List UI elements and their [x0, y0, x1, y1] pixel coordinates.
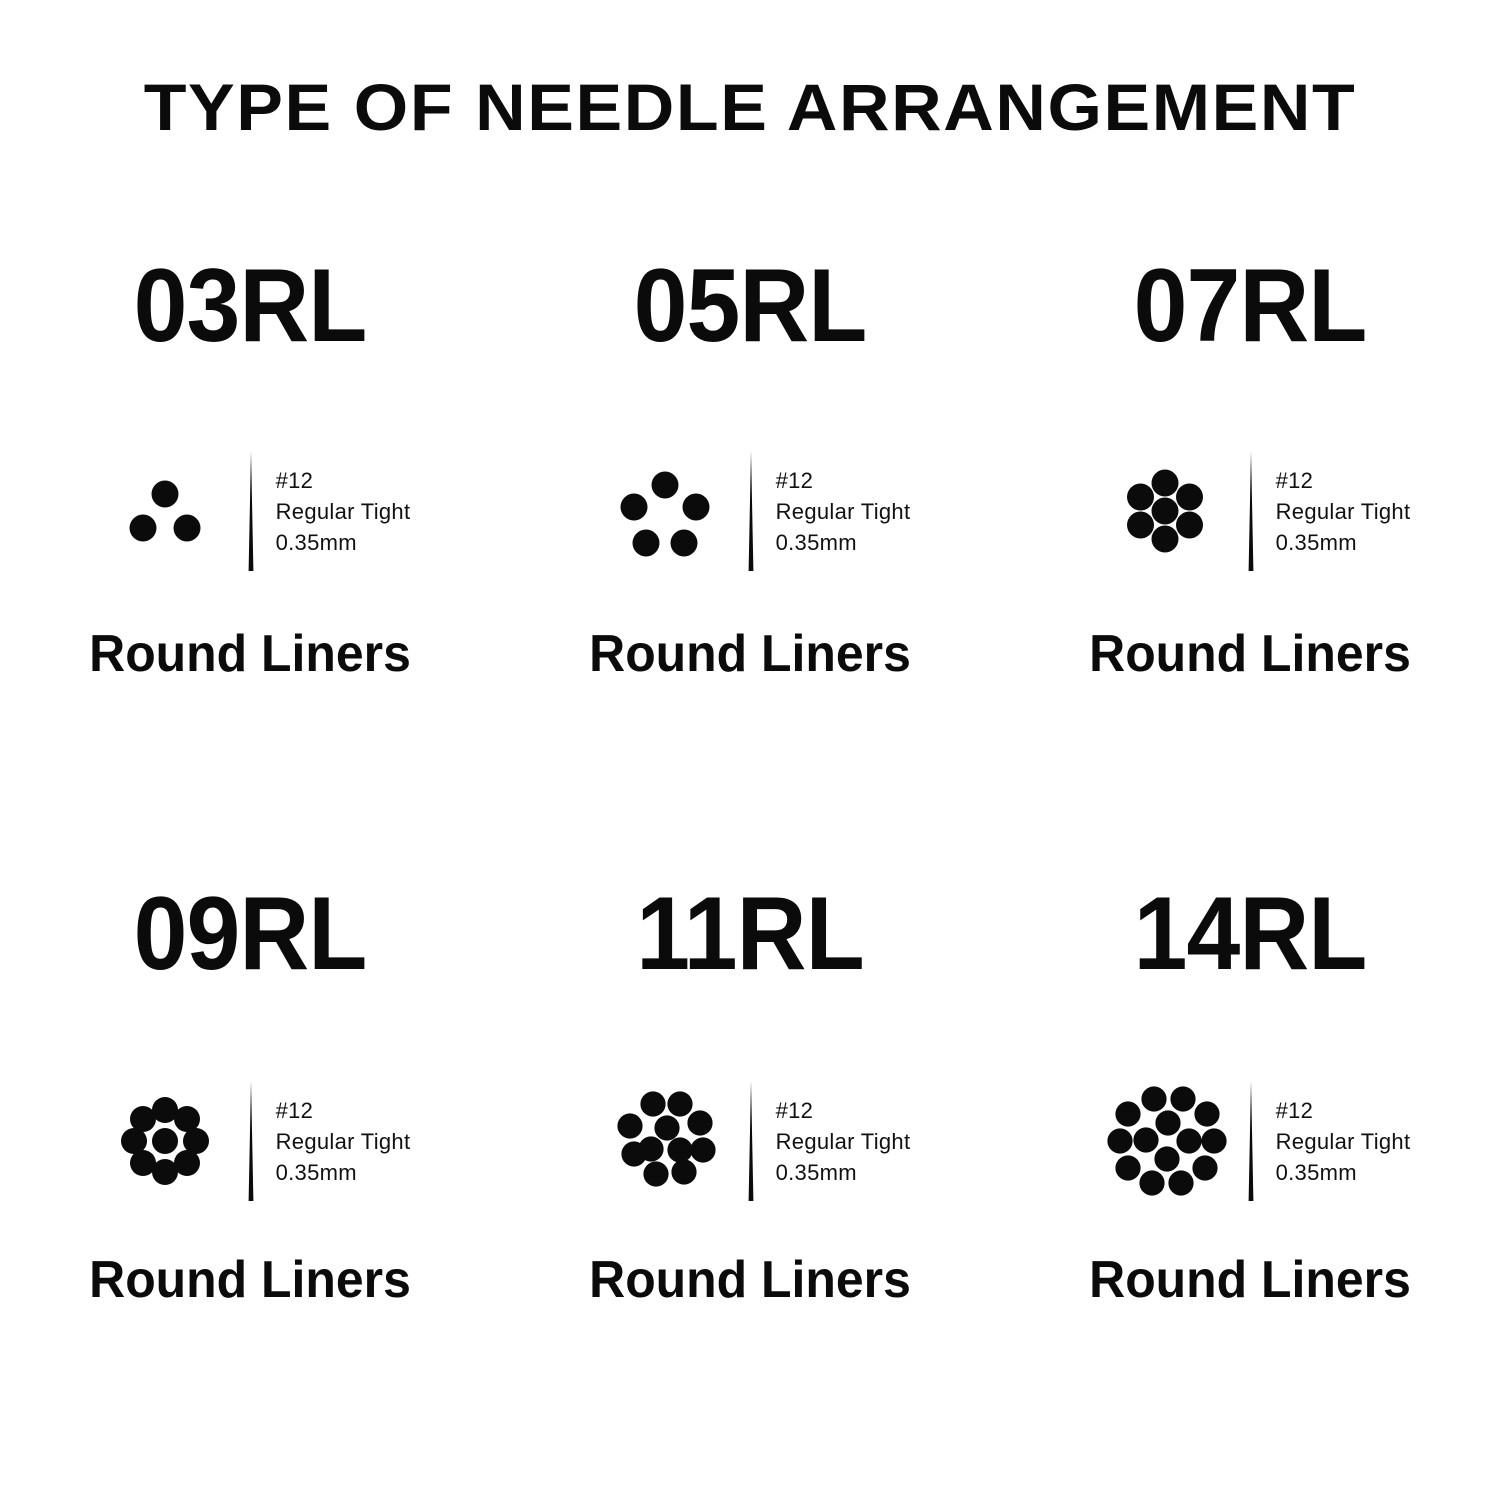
needle-specs: #12 Regular Tight 0.35mm: [262, 465, 411, 558]
needle-gauge: #12: [1276, 465, 1411, 496]
needle-detail-row: #12 Regular Tight 0.35mm: [1000, 1066, 1500, 1216]
dot-cluster-11-icon: [590, 1066, 740, 1216]
dot-cluster-7-icon: [1090, 436, 1240, 586]
needle-taper-icon: [740, 451, 762, 571]
needle-cell-03rl[interactable]: 03RL #12: [0, 240, 500, 870]
dot-cluster-14-icon: [1090, 1066, 1240, 1216]
needle-specs: #12 Regular Tight 0.35mm: [762, 465, 911, 558]
needle-detail-row: #12 Regular Tight 0.35mm: [1000, 436, 1500, 586]
needle-specs: #12 Regular Tight 0.35mm: [1262, 465, 1411, 558]
dot-cluster-9-icon: [90, 1066, 240, 1216]
needle-taper-icon: [1240, 1081, 1262, 1201]
needle-taper: Regular Tight: [1276, 1126, 1411, 1157]
needle-family-label: Round Liners: [510, 628, 990, 680]
needle-gauge: #12: [776, 1095, 911, 1126]
dot-cluster-3-icon: [90, 436, 240, 586]
needle-specs: #12 Regular Tight 0.35mm: [1262, 1095, 1411, 1188]
needle-gauge: #12: [776, 465, 911, 496]
needle-diameter: 0.35mm: [776, 1157, 911, 1188]
needle-diameter: 0.35mm: [276, 1157, 411, 1188]
needle-family-label: Round Liners: [1010, 628, 1490, 680]
needle-grid: 03RL #12: [0, 240, 1500, 1500]
needle-taper-icon: [240, 1081, 262, 1201]
needle-gauge: #12: [276, 1095, 411, 1126]
needle-taper: Regular Tight: [276, 1126, 411, 1157]
needle-diameter: 0.35mm: [1276, 527, 1411, 558]
needle-cell-11rl[interactable]: 11RL: [500, 870, 1000, 1500]
needle-code-label: 07RL: [1018, 254, 1483, 358]
needle-detail-row: #12 Regular Tight 0.35mm: [500, 1066, 1000, 1216]
needle-code-label: 11RL: [518, 882, 983, 986]
needle-cell-07rl[interactable]: 07RL: [1000, 240, 1500, 870]
needle-code-label: 14RL: [1018, 882, 1483, 986]
needle-diameter: 0.35mm: [1276, 1157, 1411, 1188]
needle-family-label: Round Liners: [10, 628, 490, 680]
needle-gauge: #12: [276, 465, 411, 496]
page-title: TYPE OF NEEDLE ARRANGEMENT: [0, 74, 1500, 140]
needle-family-label: Round Liners: [10, 1254, 490, 1306]
needle-cell-14rl[interactable]: 14RL: [1000, 870, 1500, 1500]
needle-taper-icon: [740, 1081, 762, 1201]
needle-code-label: 09RL: [18, 882, 483, 986]
needle-arrangement-chart: TYPE OF NEEDLE ARRANGEMENT 03RL: [0, 0, 1500, 1500]
needle-cell-05rl[interactable]: 05RL: [500, 240, 1000, 870]
needle-gauge: #12: [1276, 1095, 1411, 1126]
needle-diameter: 0.35mm: [276, 527, 411, 558]
needle-taper: Regular Tight: [776, 1126, 911, 1157]
needle-specs: #12 Regular Tight 0.35mm: [262, 1095, 411, 1188]
needle-family-label: Round Liners: [1010, 1254, 1490, 1306]
needle-detail-row: #12 Regular Tight 0.35mm: [0, 1066, 500, 1216]
needle-code-label: 05RL: [518, 254, 983, 358]
needle-detail-row: #12 Regular Tight 0.35mm: [0, 436, 500, 586]
needle-taper: Regular Tight: [276, 496, 411, 527]
needle-taper-icon: [1240, 451, 1262, 571]
needle-taper-icon: [240, 451, 262, 571]
needle-code-label: 03RL: [18, 254, 483, 358]
needle-taper: Regular Tight: [776, 496, 911, 527]
needle-cell-09rl[interactable]: 09RL: [0, 870, 500, 1500]
needle-family-label: Round Liners: [510, 1254, 990, 1306]
needle-detail-row: #12 Regular Tight 0.35mm: [500, 436, 1000, 586]
needle-specs: #12 Regular Tight 0.35mm: [762, 1095, 911, 1188]
dot-cluster-5-icon: [590, 436, 740, 586]
needle-taper: Regular Tight: [1276, 496, 1411, 527]
needle-diameter: 0.35mm: [776, 527, 911, 558]
